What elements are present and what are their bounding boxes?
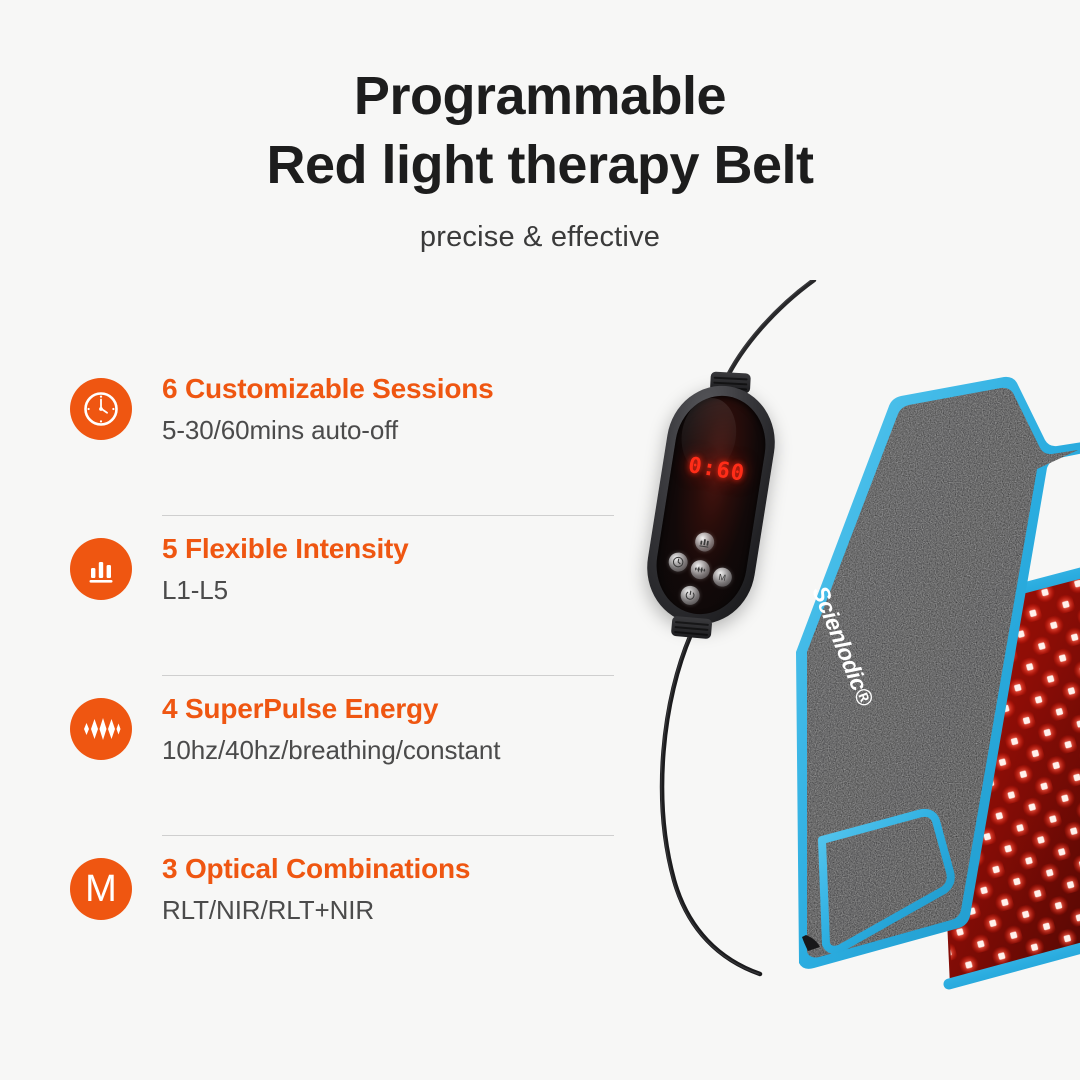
- led-display: 0:60: [670, 450, 763, 489]
- feature-item-intensity: 5 Flexible Intensity L1-L5: [66, 524, 626, 684]
- page-title-line2: Red light therapy Belt: [0, 131, 1080, 200]
- pulse-wave-icon: [70, 698, 132, 760]
- feature-title: 5 Flexible Intensity: [162, 532, 632, 566]
- svg-text:M: M: [85, 869, 117, 909]
- feature-text-block: 3 Optical Combinations RLT/NIR/RLT+NIR: [162, 852, 632, 926]
- pulse-wave-icon: [693, 562, 708, 577]
- feature-text-block: 6 Customizable Sessions 5-30/60mins auto…: [162, 372, 632, 446]
- bar-chart-icon: [70, 538, 132, 600]
- feature-divider: [162, 835, 614, 836]
- header: Programmable Red light therapy Belt prec…: [0, 62, 1080, 254]
- feature-description: 5-30/60mins auto-off: [162, 414, 632, 447]
- feature-text-block: 4 SuperPulse Energy 10hz/40hz/breathing/…: [162, 692, 632, 766]
- svg-text:M: M: [718, 572, 727, 583]
- feature-description: RLT/NIR/RLT+NIR: [162, 894, 632, 927]
- letter-m-icon: M: [70, 858, 132, 920]
- clock-icon: [70, 378, 132, 440]
- product-photo: Scienlodic®: [600, 280, 1080, 1040]
- feature-description: L1-L5: [162, 574, 632, 607]
- page-subtitle: precise & effective: [0, 221, 1080, 254]
- feature-list: 6 Customizable Sessions 5-30/60mins auto…: [66, 364, 626, 1004]
- cable-strain-relief-bottom: [671, 616, 713, 639]
- power-icon: [683, 588, 698, 603]
- feature-title: 6 Customizable Sessions: [162, 372, 632, 406]
- product-feature-graphic: Programmable Red light therapy Belt prec…: [0, 0, 1080, 1080]
- feature-description: 10hz/40hz/breathing/constant: [162, 734, 632, 767]
- feature-item-sessions: 6 Customizable Sessions 5-30/60mins auto…: [66, 364, 626, 524]
- feature-divider: [162, 515, 614, 516]
- feature-divider: [162, 675, 614, 676]
- feature-item-superpulse: 4 SuperPulse Energy 10hz/40hz/breathing/…: [66, 684, 626, 844]
- page-title-line1: Programmable: [0, 62, 1080, 131]
- feature-text-block: 5 Flexible Intensity L1-L5: [162, 532, 632, 606]
- feature-title: 4 SuperPulse Energy: [162, 692, 632, 726]
- clock-icon: [671, 555, 686, 570]
- bar-chart-icon: [697, 535, 712, 550]
- feature-item-optical: M 3 Optical Combinations RLT/NIR/RLT+NIR: [66, 844, 626, 1004]
- feature-title: 3 Optical Combinations: [162, 852, 632, 886]
- product-illustration: Scienlodic®: [600, 280, 1080, 1040]
- letter-m-icon: M: [715, 570, 730, 585]
